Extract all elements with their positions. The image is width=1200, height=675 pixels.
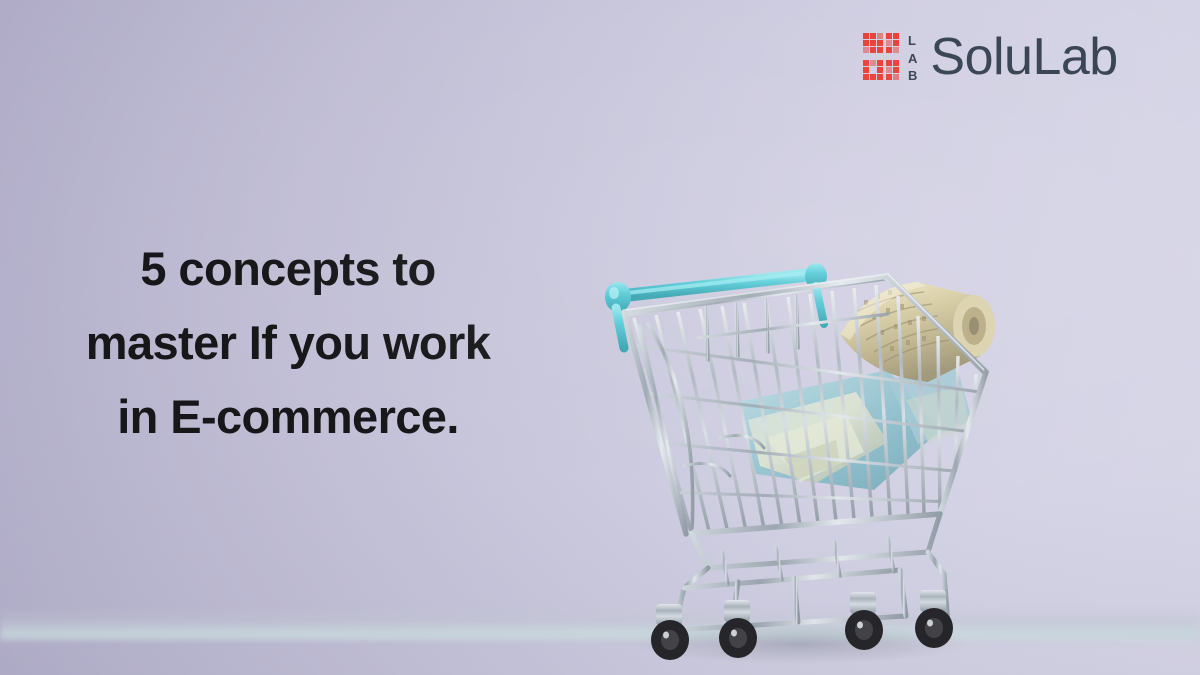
- ecommerce-banner: 5 concepts to master If you work in E-co…: [0, 0, 1200, 675]
- lab-letter-l: L: [908, 34, 917, 47]
- solulab-mark-icon: L A B: [863, 33, 917, 83]
- headline-line-1: 5 concepts to: [18, 232, 558, 306]
- lab-vertical-letters: L A B: [908, 33, 917, 82]
- solulab-logo[interactable]: L A B SoluLab: [863, 33, 1118, 83]
- shopping-cart-with-money-illustration: [588, 252, 1008, 675]
- brand-wordmark: SoluLab: [930, 31, 1117, 83]
- pixel-grid-icon: [863, 33, 905, 83]
- page-title: 5 concepts to master If you work in E-co…: [18, 232, 558, 454]
- lab-letter-a: A: [908, 52, 917, 65]
- lab-letter-b: B: [908, 69, 917, 82]
- headline-line-2: master If you work: [18, 306, 558, 380]
- headline-line-3: in E-commerce.: [18, 380, 558, 454]
